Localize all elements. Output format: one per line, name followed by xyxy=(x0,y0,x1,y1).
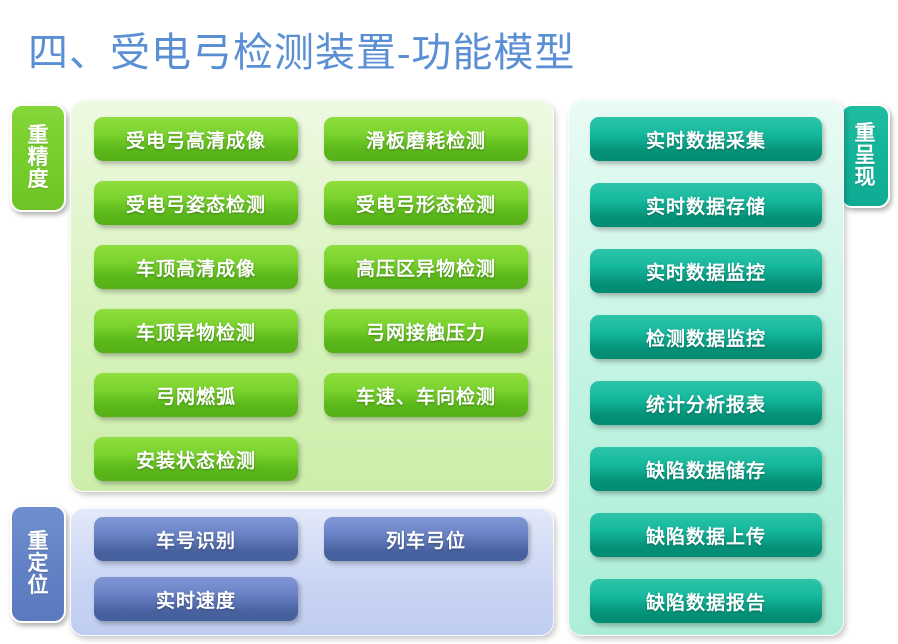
function-button-accuracy-1[interactable]: 受电弓高清成像 xyxy=(94,117,298,161)
function-button-location-1[interactable]: 车号识别 xyxy=(94,517,298,561)
function-button-accuracy-7[interactable]: 车顶异物检测 xyxy=(94,309,298,353)
function-button-accuracy-10[interactable]: 车速、车向检测 xyxy=(324,373,528,417)
side-tag-accuracy: 重精度 xyxy=(10,104,66,212)
function-button-presentation-4[interactable]: 检测数据监控 xyxy=(590,315,822,359)
side-tag-location-label: 重定位 xyxy=(27,531,49,598)
function-button-accuracy-2[interactable]: 滑板磨耗检测 xyxy=(324,117,528,161)
side-tag-location: 重定位 xyxy=(10,505,66,623)
function-button-accuracy-4[interactable]: 受电弓形态检测 xyxy=(324,181,528,225)
function-button-presentation-3[interactable]: 实时数据监控 xyxy=(590,249,822,293)
side-tag-presentation: 重呈现 xyxy=(840,104,890,208)
function-button-presentation-5[interactable]: 统计分析报表 xyxy=(590,381,822,425)
slide-canvas: 四、受电弓检测装置-功能模型 重精度 受电弓高清成像 滑板磨耗检测 受电弓姿态检… xyxy=(0,0,898,644)
function-button-accuracy-9[interactable]: 弓网燃弧 xyxy=(94,373,298,417)
side-tag-presentation-label: 重呈现 xyxy=(854,123,876,190)
function-button-location-3[interactable]: 实时速度 xyxy=(94,577,298,621)
function-button-accuracy-5[interactable]: 车顶高清成像 xyxy=(94,245,298,289)
function-button-presentation-7[interactable]: 缺陷数据上传 xyxy=(590,513,822,557)
function-button-accuracy-6[interactable]: 高压区异物检测 xyxy=(324,245,528,289)
side-tag-accuracy-label: 重精度 xyxy=(27,125,49,192)
function-button-presentation-6[interactable]: 缺陷数据储存 xyxy=(590,447,822,491)
function-button-location-2[interactable]: 列车弓位 xyxy=(324,517,528,561)
function-button-accuracy-3[interactable]: 受电弓姿态检测 xyxy=(94,181,298,225)
function-button-accuracy-8[interactable]: 弓网接触压力 xyxy=(324,309,528,353)
function-button-presentation-2[interactable]: 实时数据存储 xyxy=(590,183,822,227)
page-title: 四、受电弓检测装置-功能模型 xyxy=(28,20,575,78)
function-button-presentation-8[interactable]: 缺陷数据报告 xyxy=(590,579,822,623)
function-button-accuracy-11[interactable]: 安装状态检测 xyxy=(94,437,298,481)
function-button-presentation-1[interactable]: 实时数据采集 xyxy=(590,117,822,161)
